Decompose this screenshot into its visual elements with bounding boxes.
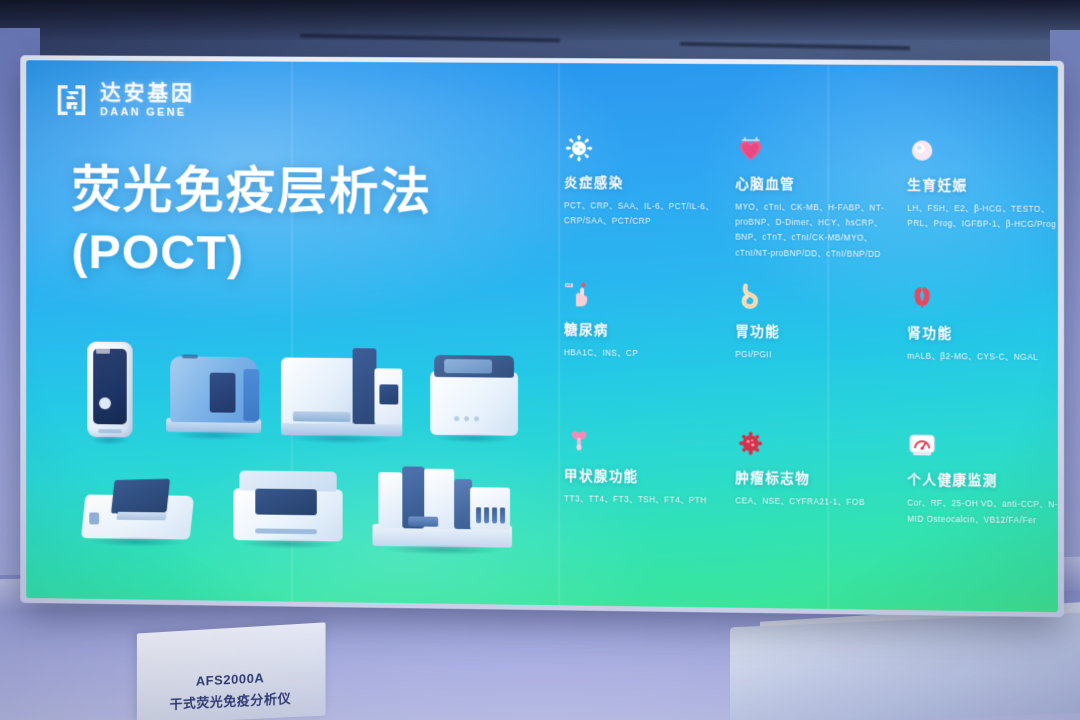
placard-model: AFS2000A [196, 670, 265, 689]
svg-text:mG: mG [566, 283, 572, 287]
category-diabetes: mG 糖尿病 HBA1C、INS、CP [562, 280, 721, 418]
virus-icon [564, 133, 594, 163]
category-renal-function: 肾功能 mALB、β2-MG、CYS-C、NGAL [905, 283, 1058, 422]
category-title: 糖尿病 [564, 318, 721, 340]
brand-name-en: DAAN GENE [100, 107, 195, 119]
test-category-grid: 炎症感染 PCT、CRP、SAA、IL-6、PCT/IL-6、CRP/SAA、P… [562, 133, 1058, 570]
category-items: MYO、cTnI、CK-MB、H-FABP、NT-proBNP、D-Dimer、… [735, 199, 893, 261]
category-title: 个人健康监测 [907, 469, 1058, 491]
category-inflammation: 炎症感染 PCT、CRP、SAA、IL-6、PCT/IL-6、CRP/SAA、P… [562, 133, 721, 271]
thyroid-gland-icon [564, 427, 594, 457]
device-large-modular-system [372, 458, 512, 548]
category-cardiovascular: 心脑血管 MYO、cTnI、CK-MB、H-FABP、NT-proBNP、D-D… [733, 134, 893, 272]
device-flat-touchscreen-reader [83, 475, 192, 540]
category-gastric-function: 胃功能 PGI/PGII [733, 281, 893, 420]
category-items: HBA1C、INS、CP [564, 345, 716, 362]
brand-logo: 达安基因 DAAN GENE [54, 82, 195, 119]
category-items: CEA、NSE、CYFRA21-1、FOB [735, 494, 888, 511]
category-title: 肿瘤标志物 [735, 467, 893, 489]
category-items: Cor、RF、25-OH VD、anti-CCP、N-MID Osteocalc… [907, 496, 1058, 528]
device-blue-benchtop-analyzer [166, 348, 261, 433]
ceiling-shadow [0, 0, 1080, 40]
health-gauge-icon [907, 430, 937, 461]
device-flat-touchscreen-reader-2 [234, 470, 343, 541]
category-title: 炎症感染 [564, 171, 721, 192]
device-cube-analyzer [430, 355, 518, 436]
brand-name-cn: 达安基因 [100, 82, 195, 103]
category-items: TT3、TT4、FT3、TSH、FT4、PTH [564, 492, 716, 509]
title-line-2: (POCT) [71, 222, 432, 286]
tumor-cell-icon [735, 428, 765, 458]
pregnancy-ovum-icon [907, 135, 937, 165]
category-items: mALB、β2-MG、CYS-C、NGAL [907, 348, 1058, 365]
kidney-icon [907, 283, 937, 313]
brand-logo-text: 达安基因 DAAN GENE [100, 82, 195, 118]
led-display-frame: 达安基因 DAAN GENE 荧光免疫层析法 (POCT) [20, 55, 1064, 617]
page-title: 荧光免疫层析法 (POCT) [71, 160, 432, 287]
device-white-modular-analyzer [281, 341, 402, 436]
product-lineup [56, 304, 532, 568]
category-items: LH、FSH、E2、β-HCG、TESTO、PRL、Prog、IGFBP-1、β… [907, 201, 1058, 233]
category-fertility-pregnancy: 生育妊娠 LH、FSH、E2、β-HCG、TESTO、PRL、Prog、IGFB… [905, 135, 1058, 274]
finger-prick-glucose-icon: mG [564, 280, 594, 310]
daan-gene-bracket-logo-icon [54, 82, 89, 118]
pedestal-block [730, 613, 1080, 720]
category-personal-health-monitoring: 个人健康监测 Cor、RF、25-OH VD、anti-CCP、N-MID Os… [905, 430, 1058, 570]
title-line-1: 荧光免疫层析法 [71, 160, 432, 223]
category-title: 心脑血管 [735, 172, 893, 193]
product-placard: AFS2000A 干式荧光免疫分析仪 [137, 622, 326, 720]
category-title: 肾功能 [907, 321, 1058, 343]
panel-seam-2 [558, 63, 560, 605]
category-title: 胃功能 [735, 320, 893, 342]
category-tumor-markers: 肿瘤标志物 CEA、NSE、CYFRA21-1、FOB [733, 428, 893, 567]
placard-description: 干式荧光免疫分析仪 [170, 688, 292, 713]
category-items: PCT、CRP、SAA、IL-6、PCT/IL-6、CRP/SAA、PCT/CR… [564, 198, 716, 230]
category-thyroid-function: 甲状腺功能 TT3、TT4、FT3、TSH、FT4、PTH [562, 427, 721, 566]
category-items: PGI/PGII [735, 347, 888, 364]
category-title: 甲状腺功能 [564, 465, 721, 487]
led-display-screen: 达安基因 DAAN GENE 荧光免疫层析法 (POCT) [26, 60, 1058, 612]
exhibition-booth-photo: 达安基因 DAAN GENE 荧光免疫层析法 (POCT) [0, 0, 1080, 720]
stomach-icon [735, 281, 765, 311]
device-handheld-analyzer [87, 342, 132, 438]
category-title: 生育妊娠 [907, 174, 1058, 195]
heart-icon [735, 134, 765, 164]
